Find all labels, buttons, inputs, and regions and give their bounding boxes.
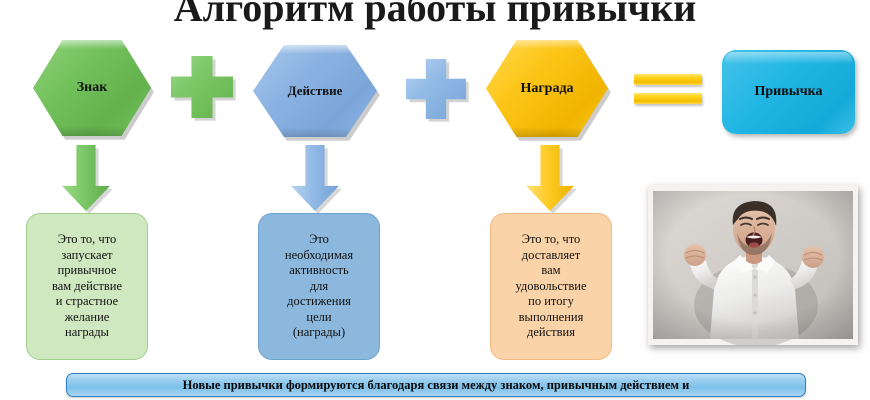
page-title: Алгоритм работы привычки xyxy=(0,0,870,31)
equals-sign-bar-bottom-icon xyxy=(634,93,702,104)
description-card-sign: Это то, что запускает привычное вам дейс… xyxy=(26,213,148,360)
plus-sign-green-icon xyxy=(171,56,233,118)
hexagon-reward-label: Награда xyxy=(520,81,573,97)
plus-sign-blue-icon xyxy=(406,59,466,119)
description-card-reward: Это то, что доставляет вам удовольствие … xyxy=(490,213,612,360)
arrow-down-sign-icon xyxy=(62,145,110,211)
bottom-banner: Новые привычки формируются благодаря свя… xyxy=(66,373,806,397)
description-card-action-text: Это необходимая активность для достижени… xyxy=(285,232,353,341)
celebrating-man-photo xyxy=(648,185,858,345)
result-box-habit[interactable]: Привычка xyxy=(722,50,855,134)
infographic-canvas: Алгоритм работы привычки Знак Действие Н… xyxy=(0,0,870,400)
description-card-sign-text: Это то, что запускает привычное вам дейс… xyxy=(52,232,122,341)
equals-sign-bar-top-icon xyxy=(634,74,702,85)
bottom-banner-text: Новые привычки формируются благодаря свя… xyxy=(183,378,690,393)
arrow-down-action-icon xyxy=(291,145,339,211)
result-box-habit-label: Привычка xyxy=(755,84,823,100)
description-card-reward-text: Это то, что доставляет вам удовольствие … xyxy=(515,232,586,341)
hexagon-sign-label: Знак xyxy=(77,80,108,96)
description-card-action: Это необходимая активность для достижени… xyxy=(258,213,380,360)
celebrating-man-illustration xyxy=(648,185,858,345)
hexagon-action-label: Действие xyxy=(288,83,343,99)
arrow-down-reward-icon xyxy=(526,145,574,211)
